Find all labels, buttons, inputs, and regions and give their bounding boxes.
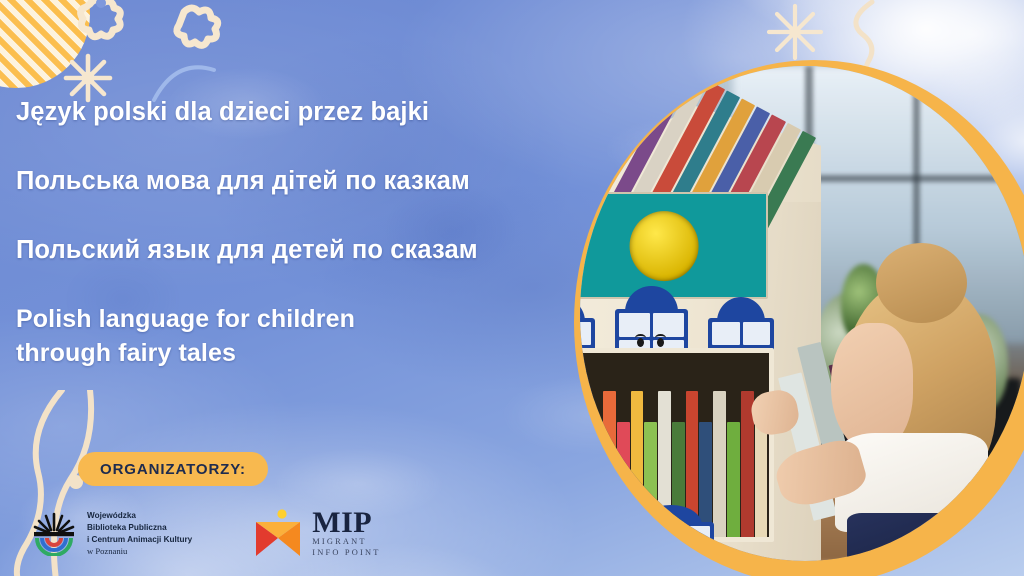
child-skirt	[847, 513, 996, 561]
mip-logo-icon	[252, 508, 304, 560]
headline-en: Polish language for children through fai…	[16, 303, 576, 370]
child-hair-bun	[876, 243, 967, 323]
organizer-logos: Wojewódzka Biblioteka Publiczna i Centru…	[30, 508, 576, 560]
poster-canvas: Język polski dla dzieci przez bajki Поль…	[0, 0, 1024, 576]
child-figure	[814, 274, 1021, 561]
mip-subtitle: MIGRANT INFO POINT	[312, 537, 380, 559]
headline-pl: Język polski dla dzieci przez bajki	[16, 96, 576, 129]
wbpicak-logo-icon	[30, 512, 78, 556]
photo-mask	[580, 66, 1024, 561]
headline-block: Język polski dla dzieci przez bajki Поль…	[16, 96, 576, 370]
house-window-bottom	[628, 522, 715, 561]
wbpicak-name: Wojewódzka Biblioteka Publiczna i Centru…	[87, 510, 192, 545]
window-eye-left	[637, 338, 644, 347]
gable-panel	[580, 192, 768, 299]
organizers-badge: ORGANIZATORZY:	[78, 452, 268, 486]
mip-text-group: MIP MIGRANT INFO POINT	[312, 509, 380, 558]
organizers-section: ORGANIZATORZY:	[16, 452, 576, 560]
logo-mip: MIP MIGRANT INFO POINT	[252, 508, 380, 560]
round-window	[630, 211, 699, 281]
flower-doodle-icon-2	[160, 2, 238, 64]
photo-circle	[574, 60, 1024, 576]
star-doodle-icon-3	[765, 2, 825, 62]
headline-uk: Польська мова для дітей по казкам	[16, 165, 576, 198]
window-panes	[632, 526, 711, 561]
wbpicak-city: w Poznaniu	[87, 545, 192, 557]
logo-wbpicak: Wojewódzka Biblioteka Publiczna i Centru…	[30, 510, 192, 557]
striped-circle-decoration	[0, 0, 90, 88]
library-scene	[580, 66, 1024, 561]
headline-ru: Польский язык для детей по сказам	[16, 234, 576, 267]
wbpicak-text-group: Wojewódzka Biblioteka Publiczna i Centru…	[87, 510, 192, 557]
mip-title: MIP	[312, 509, 380, 537]
